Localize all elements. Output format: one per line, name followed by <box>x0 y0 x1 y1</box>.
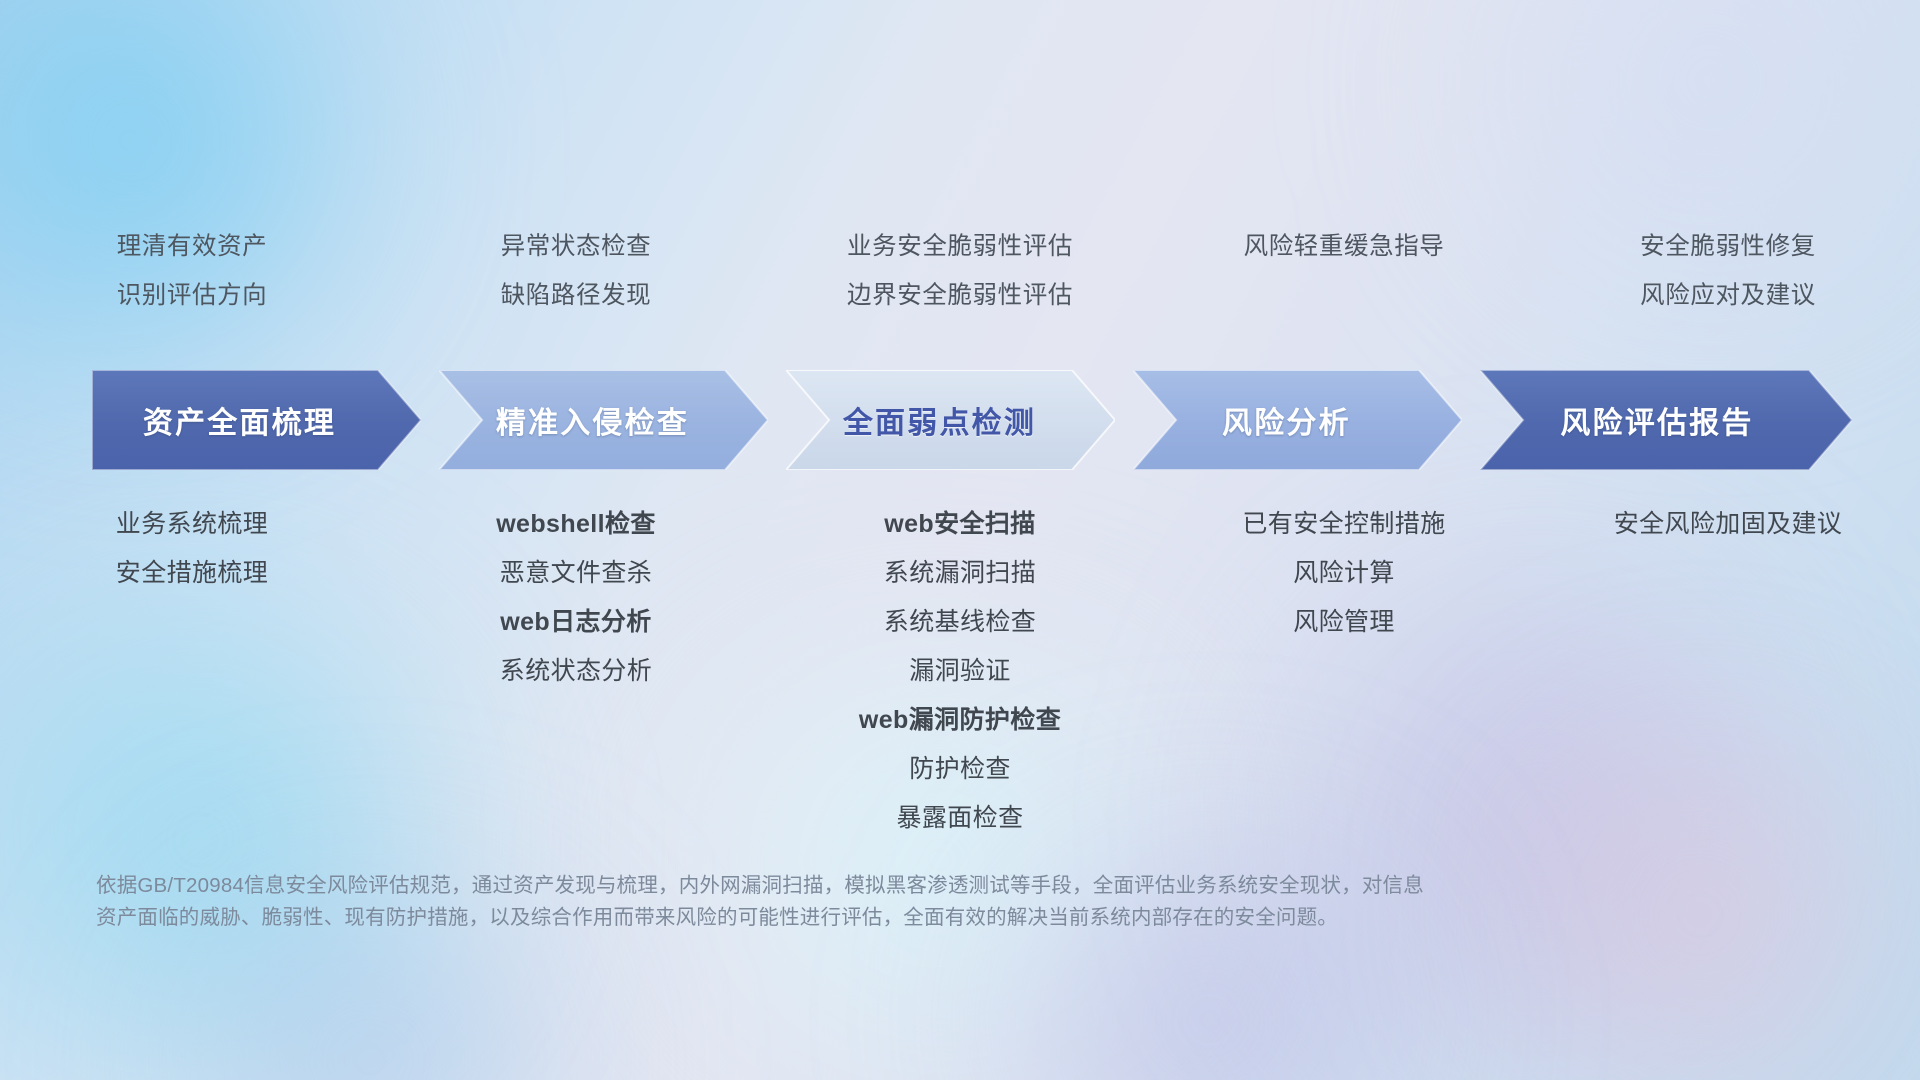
bottom-point: 暴露面检查 <box>768 794 1152 843</box>
footer-line: 依据GB/T20984信息安全风险评估规范，通过资产发现与梳理，内外网漏洞扫描，… <box>96 870 1656 902</box>
top-point: 安全脆弱性修复 <box>1536 222 1920 271</box>
bottom-point: 系统漏洞扫描 <box>768 549 1152 598</box>
top-point: 识别评估方向 <box>0 271 384 320</box>
top-points-row: 理清有效资产 识别评估方向 异常状态检查 缺陷路径发现 业务安全脆弱性评估 边界… <box>0 222 1920 320</box>
chevron-stage-weakness-detection[interactable]: 全面弱点检测 <box>786 370 1115 470</box>
bottom-point: 风险计算 <box>1152 549 1536 598</box>
bottom-point: 防护检查 <box>768 745 1152 794</box>
bottom-point: 风险管理 <box>1152 598 1536 647</box>
top-point: 边界安全脆弱性评估 <box>768 271 1152 320</box>
bottom-points-intrusion-check: webshell检查 恶意文件查杀 web日志分析 系统状态分析 <box>384 500 768 696</box>
top-point: 业务安全脆弱性评估 <box>768 222 1152 271</box>
bottom-points-weakness-detection: web安全扫描 系统漏洞扫描 系统基线检查 漏洞验证 web漏洞防护检查 防护检… <box>768 500 1152 843</box>
bottom-points-risk-analysis: 已有安全控制措施 风险计算 风险管理 <box>1152 500 1536 647</box>
bottom-point: 业务系统梳理 <box>0 500 384 549</box>
chevron-stage-asset-inventory[interactable]: 资产全面梳理 <box>92 370 421 470</box>
process-chevron-banner: 资产全面梳理 精准入侵检查 <box>92 370 1852 470</box>
top-points-risk-analysis: 风险轻重缓急指导 <box>1152 222 1536 320</box>
bottom-point: web安全扫描 <box>768 500 1152 549</box>
bottom-points-asset-inventory: 业务系统梳理 安全措施梳理 <box>0 500 384 598</box>
chevron-stage-intrusion-check[interactable]: 精准入侵检查 <box>439 370 768 470</box>
chevron-label: 全面弱点检测 <box>843 398 1036 442</box>
bottom-points-risk-report: 安全风险加固及建议 <box>1536 500 1920 549</box>
bottom-point: 漏洞验证 <box>768 647 1152 696</box>
bottom-point: web漏洞防护检查 <box>768 696 1152 745</box>
chevron-label: 风险评估报告 <box>1560 398 1753 442</box>
bottom-point: 安全风险加固及建议 <box>1536 500 1920 549</box>
chevron-stage-risk-analysis[interactable]: 风险分析 <box>1133 370 1462 470</box>
top-points-risk-report: 安全脆弱性修复 风险应对及建议 <box>1536 222 1920 320</box>
top-point: 理清有效资产 <box>0 222 384 271</box>
chevron-label: 资产全面梳理 <box>143 398 336 442</box>
top-point: 风险应对及建议 <box>1536 271 1920 320</box>
top-points-weakness-detection: 业务安全脆弱性评估 边界安全脆弱性评估 <box>768 222 1152 320</box>
bottom-point: web日志分析 <box>384 598 768 647</box>
top-points-intrusion-check: 异常状态检查 缺陷路径发现 <box>384 222 768 320</box>
top-point: 缺陷路径发现 <box>384 271 768 320</box>
footer-description: 依据GB/T20984信息安全风险评估规范，通过资产发现与梳理，内外网漏洞扫描，… <box>96 870 1656 934</box>
footer-line: 资产面临的威胁、脆弱性、现有防护措施，以及综合作用而带来风险的可能性进行评估，全… <box>96 902 1656 934</box>
bottom-point: 系统基线检查 <box>768 598 1152 647</box>
top-point: 异常状态检查 <box>384 222 768 271</box>
bottom-point: webshell检查 <box>384 500 768 549</box>
bottom-points-row: 业务系统梳理 安全措施梳理 webshell检查 恶意文件查杀 web日志分析 … <box>0 500 1920 843</box>
chevron-stage-risk-report[interactable]: 风险评估报告 <box>1480 370 1852 470</box>
top-point: 风险轻重缓急指导 <box>1152 222 1536 271</box>
top-points-asset-inventory: 理清有效资产 识别评估方向 <box>0 222 384 320</box>
process-diagram: 理清有效资产 识别评估方向 异常状态检查 缺陷路径发现 业务安全脆弱性评估 边界… <box>0 0 1920 1080</box>
bottom-point: 系统状态分析 <box>384 647 768 696</box>
bottom-point: 安全措施梳理 <box>0 549 384 598</box>
chevron-label: 风险分析 <box>1222 398 1351 442</box>
chevron-label: 精准入侵检查 <box>496 398 689 442</box>
bottom-point: 恶意文件查杀 <box>384 549 768 598</box>
bottom-point: 已有安全控制措施 <box>1152 500 1536 549</box>
